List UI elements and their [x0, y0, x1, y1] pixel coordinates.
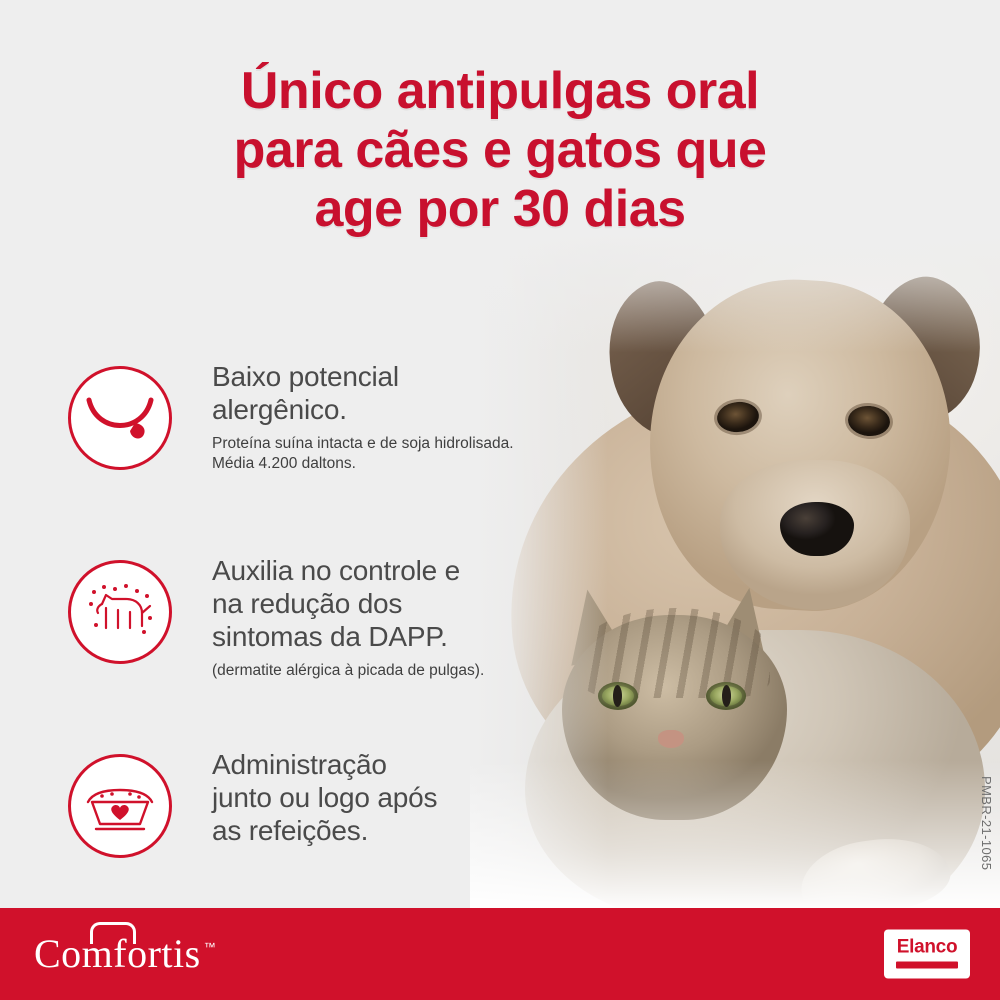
feature-subtext: (dermatite alérgica à picada de pulgas). [212, 661, 582, 681]
feature-title: Administração junto ou logo após as refe… [212, 748, 582, 847]
feature-title: Auxilia no controle e na redução dos sin… [212, 554, 582, 653]
headline-line-3: age por 30 dias [120, 180, 880, 239]
headline-line-2: para cães e gatos que [120, 121, 880, 180]
feature-title-line-1: Baixo potencial [212, 361, 399, 392]
food-bowl-heart-icon [68, 754, 172, 858]
feature-item-administration: Administração junto ou logo após as refe… [62, 748, 582, 898]
feature-list: Baixo potencial alergênico. Proteína suí… [62, 360, 582, 876]
feature-title-line-1: Auxilia no controle e [212, 555, 460, 586]
feature-title-line-3: as refeições. [212, 815, 368, 846]
headline: Único antipulgas oral para cães e gatos … [120, 62, 880, 238]
feature-subtext-line-1: (dermatite alérgica à picada de pulgas). [212, 662, 484, 679]
feature-title-line-2: junto ou logo após [212, 782, 437, 813]
feature-subtext-line-1: Proteína suína intacta e de soja hidroli… [212, 435, 514, 452]
feature-title: Baixo potencial alergênico. [212, 360, 582, 426]
feature-subtext: Proteína suína intacta e de soja hidroli… [212, 434, 582, 474]
regulatory-code: PMBR-21-1065 [979, 776, 994, 870]
dog-scratching-fleas-icon [68, 560, 172, 664]
feature-title-line-2: alergênico. [212, 394, 347, 425]
feature-title-line-2: na redução dos [212, 588, 402, 619]
feature-item-low-allergenic: Baixo potencial alergênico. Proteína suí… [62, 360, 582, 510]
comfortis-roof-icon [90, 922, 136, 944]
elanco-bar-icon [896, 962, 958, 969]
headline-line-1: Único antipulgas oral [120, 62, 880, 121]
feature-title-line-3: sintomas da DAPP. [212, 621, 448, 652]
elanco-wordmark: Elanco [897, 938, 958, 957]
feature-item-dapp-control: Auxilia no controle e na redução dos sin… [62, 554, 582, 704]
trademark-symbol: ™ [204, 940, 216, 954]
comfortis-logo: Comfortis ™ [34, 934, 216, 974]
elanco-logo: Elanco [884, 930, 970, 979]
feature-subtext-line-2: Média 4.200 daltons. [212, 455, 356, 472]
smiling-face-tongue-icon [68, 366, 172, 470]
promo-poster: Único antipulgas oral para cães e gatos … [0, 0, 1000, 1000]
feature-title-line-1: Administração [212, 749, 387, 780]
footer-bar: Comfortis ™ Elanco [0, 908, 1000, 1000]
